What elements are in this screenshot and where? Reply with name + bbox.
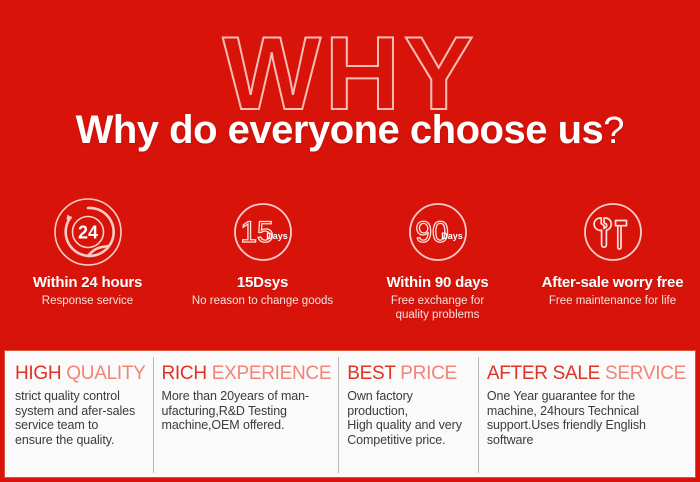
page-title-text: Why do everyone choose us (76, 108, 604, 152)
feature-title: Within 24 hours (33, 274, 142, 291)
feature-item-24-hours: 24 Within 24 hours Response service (0, 196, 175, 338)
benefit-body: More than 20years of man- ufacturing,R&D… (162, 389, 332, 433)
benefit-title: AFTER SALE SERVICE (487, 363, 686, 384)
benefit-title-word2: QUALITY (66, 363, 145, 384)
benefit-title-word1: AFTER SALE (487, 363, 600, 384)
benefit-body: One Year guarantee for the machine, 24ho… (487, 389, 686, 447)
benefit-title-word1: HIGH (15, 363, 61, 384)
benefit-title-word2: PRICE (400, 363, 457, 384)
benefits-panel: HIGH QUALITY strict quality control syst… (4, 350, 696, 478)
svg-text:24: 24 (77, 223, 97, 243)
svg-text:Days: Days (266, 231, 288, 241)
benefit-title: HIGH QUALITY (15, 363, 146, 384)
feature-title: Within 90 days (386, 274, 488, 291)
page-title: Why do everyone choose us? (0, 108, 700, 153)
benefit-title-word2: EXPERIENCE (212, 363, 331, 384)
feature-title: After-sale worry free (542, 274, 684, 291)
feature-subtitle: Free exchange for quality problems (391, 294, 484, 322)
benefit-body: Own factory production, High quality and… (347, 389, 471, 447)
benefit-column-high-quality: HIGH QUALITY strict quality control syst… (7, 357, 154, 473)
feature-subtitle: Free maintenance for life (549, 294, 676, 308)
benefit-body: strict quality control system and afer-s… (15, 389, 146, 447)
clock-24-icon: 24 (52, 196, 124, 268)
calendar-15-days-icon: 15 Days (227, 196, 299, 268)
benefit-column-after-sale-service: AFTER SALE SERVICE One Year guarantee fo… (479, 357, 693, 473)
benefit-title-word2: SERVICE (605, 363, 686, 384)
feature-row: 24 Within 24 hours Response service 15 D… (0, 196, 700, 338)
feature-title: 15Dsys (237, 274, 288, 291)
feature-subtitle: No reason to change goods (192, 294, 333, 308)
feature-item-15-days: 15 Days 15Dsys No reason to change goods (175, 196, 350, 338)
calendar-90-days-icon: 90 Days (402, 196, 474, 268)
feature-item-90-days: 90 Days Within 90 days Free exchange for… (350, 196, 525, 338)
feature-subtitle: Response service (42, 294, 133, 308)
benefit-column-rich-experience: RICH EXPERIENCE More than 20years of man… (154, 357, 340, 473)
tools-wrench-hammer-icon (577, 196, 649, 268)
svg-text:Days: Days (441, 231, 463, 241)
promo-banner: WHY Why do everyone choose us? 24 Within… (0, 0, 700, 482)
benefit-title: BEST PRICE (347, 363, 471, 384)
benefit-title: RICH EXPERIENCE (162, 363, 332, 384)
feature-item-after-sale: After-sale worry free Free maintenance f… (525, 196, 700, 338)
benefit-column-best-price: BEST PRICE Own factory production, High … (339, 357, 479, 473)
benefit-title-word1: RICH (162, 363, 207, 384)
page-title-question-mark: ? (603, 110, 624, 152)
benefit-title-word1: BEST (347, 363, 395, 384)
